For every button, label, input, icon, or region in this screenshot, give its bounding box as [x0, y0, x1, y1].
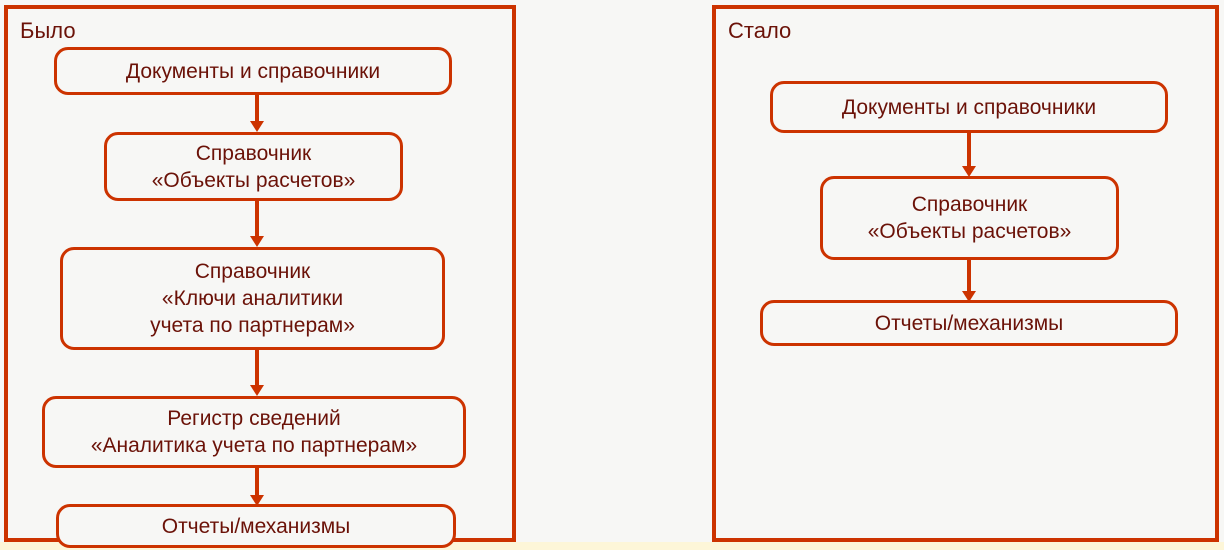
node-after-reports[interactable]: Отчеты/механизмы: [760, 300, 1178, 346]
node-label-line: Регистр сведений: [167, 405, 340, 432]
node-label-line: Документы и справочники: [842, 94, 1096, 121]
arrow-shaft: [967, 133, 971, 167]
node-label-line: «Аналитика учета по партнерам»: [91, 432, 417, 459]
diagram-canvas: Было Документы и справочники Справочник …: [0, 0, 1224, 550]
node-before-catalog-keys[interactable]: Справочник «Ключи аналитики учета по пар…: [60, 247, 445, 350]
node-label-line: Отчеты/механизмы: [162, 513, 351, 540]
node-label-line: Отчеты/механизмы: [875, 310, 1064, 337]
node-before-register[interactable]: Регистр сведений «Аналитика учета по пар…: [42, 396, 466, 468]
arrow-before-1: [242, 95, 272, 132]
node-label-line: учета по партнерам»: [150, 312, 355, 339]
node-label-line: «Объекты расчетов»: [152, 167, 356, 194]
arrow-shaft: [255, 350, 259, 386]
node-label-line: Документы и справочники: [126, 58, 380, 85]
arrow-after-2: [954, 260, 984, 302]
panel-before: Было Документы и справочники Справочник …: [4, 5, 516, 542]
panel-before-title: Было: [20, 19, 76, 43]
node-after-catalog-objects[interactable]: Справочник «Объекты расчетов»: [820, 176, 1119, 260]
node-after-documents[interactable]: Документы и справочники: [770, 81, 1168, 133]
panel-after: Стало Документы и справочники Справочник…: [712, 5, 1219, 542]
arrow-shaft: [255, 95, 259, 122]
arrow-shaft: [967, 260, 971, 292]
node-label-line: Справочник: [196, 140, 312, 167]
arrow-before-4: [242, 468, 272, 506]
panel-after-title: Стало: [728, 19, 791, 43]
node-label-line: Справочник: [912, 191, 1028, 218]
arrow-head: [250, 236, 264, 247]
node-label-line: «Объекты расчетов»: [868, 218, 1072, 245]
arrow-before-3: [242, 350, 272, 396]
arrow-after-1: [954, 133, 984, 177]
node-before-documents[interactable]: Документы и справочники: [54, 47, 452, 95]
arrow-shaft: [255, 468, 259, 496]
arrow-head: [250, 385, 264, 396]
arrow-shaft: [255, 201, 259, 237]
node-label-line: Справочник: [195, 258, 311, 285]
node-label-line: «Ключи аналитики: [162, 285, 343, 312]
node-before-reports[interactable]: Отчеты/механизмы: [56, 504, 456, 548]
arrow-head: [250, 121, 264, 132]
arrow-before-2: [242, 201, 272, 247]
node-before-catalog-objects[interactable]: Справочник «Объекты расчетов»: [104, 132, 403, 201]
